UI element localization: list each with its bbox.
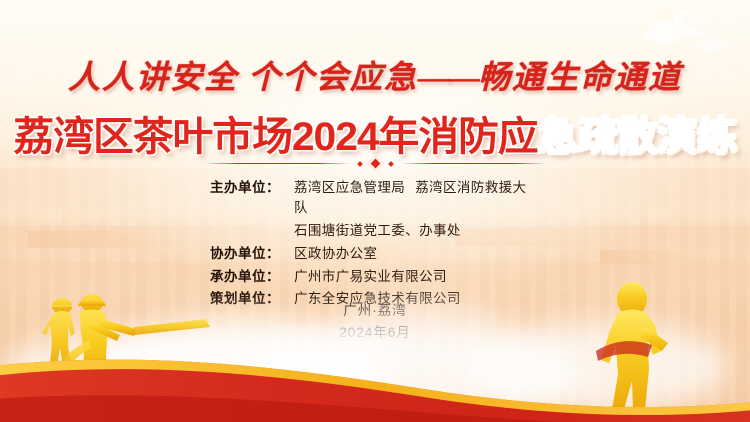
subtitle-part2: 畅通生命通道 (478, 59, 682, 95)
organizer-row: 石围塘街道党工委、办事处 (210, 221, 540, 241)
subtitle-dash: —— (418, 59, 478, 95)
decorative-divider (0, 158, 750, 169)
divider-line-left (205, 163, 350, 165)
main-title-lead: 荔湾区茶叶市场2024年消防应 (13, 115, 537, 159)
organizer-row: 协办单位： 区政协办公室 (210, 244, 540, 264)
poster-main-title: 荔湾区茶叶市场2024年消防应急疏散演练 (0, 104, 750, 162)
organizer-label: 协办单位： (210, 244, 294, 264)
red-ribbon-swoosh (0, 316, 750, 422)
organizer-label: 主办单位： (210, 178, 294, 198)
main-title-tail: 急疏散演练 (538, 115, 737, 159)
organizer-value: 石围塘街道党工委、办事处 (294, 221, 461, 241)
divider-dot (388, 161, 394, 167)
organizer-value: 荔湾区应急管理局荔湾区消防救援大队 (294, 178, 540, 219)
organizer-value: 广州市广易实业有限公司 (294, 267, 447, 287)
poster-canvas: 人人讲安全 个个会应急——畅通生命通道 荔湾区茶叶市场2024年消防应急疏散演练… (0, 0, 750, 422)
divider-line-right (401, 163, 546, 165)
organizer-value: 区政协办公室 (294, 244, 377, 264)
divider-diamond-icon (367, 156, 383, 172)
divider-dot (357, 161, 363, 167)
organizer-row: 承办单位： 广州市广易实业有限公司 (210, 267, 540, 287)
poster-subtitle: 人人讲安全 个个会应急——畅通生命通道 (0, 52, 750, 98)
organizer-row: 主办单位： 荔湾区应急管理局荔湾区消防救援大队 (210, 178, 540, 219)
organizer-label: 承办单位： (210, 267, 294, 287)
subtitle-part1: 人人讲安全 个个会应急 (68, 59, 418, 95)
